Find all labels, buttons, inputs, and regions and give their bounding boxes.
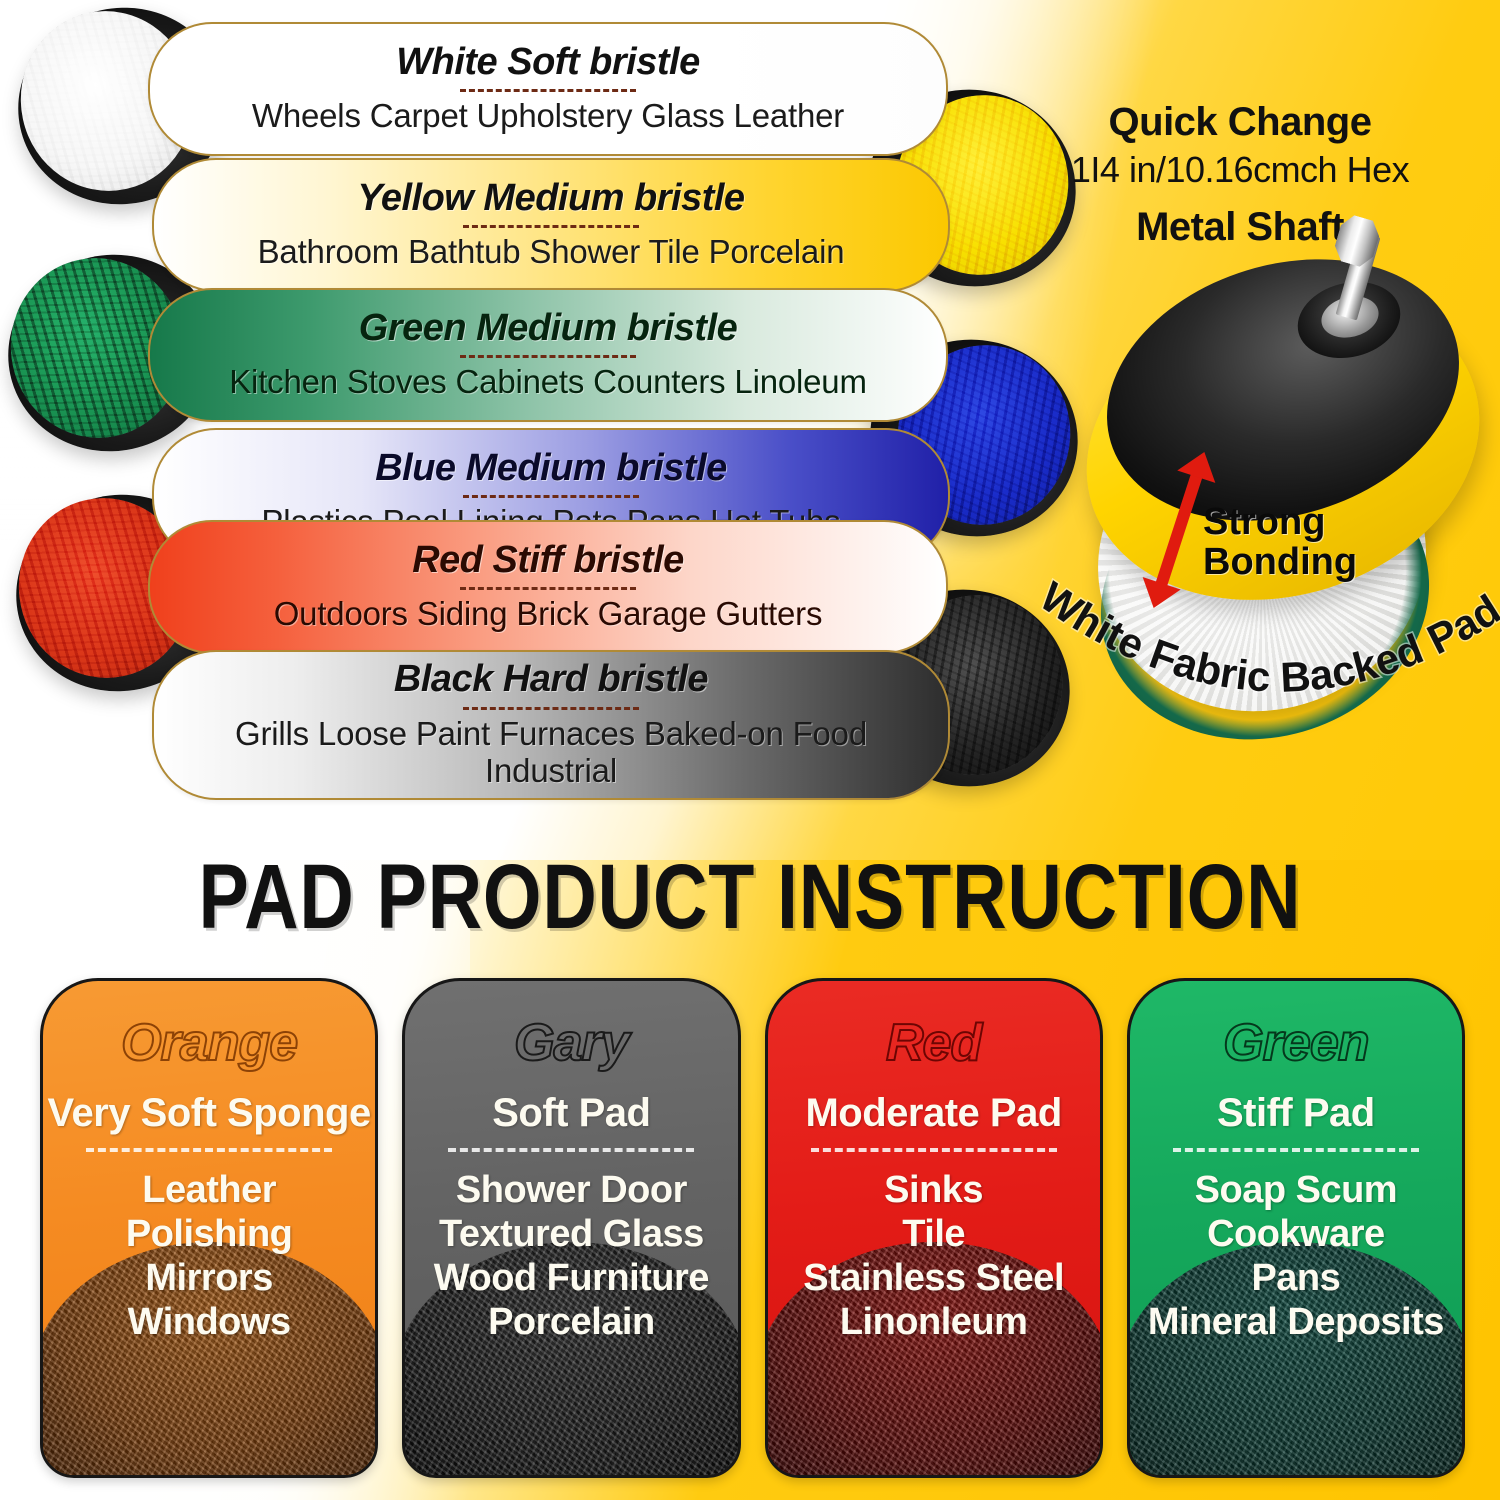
divider-dashed: [460, 355, 636, 358]
bristle-uses: Grills Loose Paint Furnaces Baked-on Foo…: [235, 716, 867, 753]
list-item: Soap Scum: [1130, 1168, 1462, 1212]
list-item: Pans: [1130, 1256, 1462, 1300]
pad-card-heading: Moderate Pad: [768, 1091, 1100, 1136]
pad-card-gary[interactable]: Gary Soft Pad Shower Door Textured Glass…: [402, 978, 740, 1478]
bristle-uses-line2: Industrial: [485, 753, 617, 790]
pad-card-name: Green: [1130, 1017, 1462, 1069]
bristle-uses: Outdoors Siding Brick Garage Gutters: [274, 596, 823, 633]
curved-caption-svg: White Fabric Backed Pads: [1040, 555, 1500, 745]
pad-card-green[interactable]: Green Stiff Pad Soap Scum Cookware Pans …: [1127, 978, 1465, 1478]
divider-dashed: [460, 89, 636, 92]
divider-dashed: [463, 225, 639, 228]
bristle-uses: Kitchen Stoves Cabinets Counters Linoleu…: [229, 364, 867, 401]
divider-dashed: [463, 707, 639, 710]
pad-card-heading: Very Soft Sponge: [43, 1091, 375, 1136]
bristle-title: Blue Medium bristle: [375, 449, 727, 489]
bristle-row-yellow: Yellow Medium bristle Bathroom Bathtub S…: [152, 158, 950, 292]
pad-card-uses: Leather Polishing Mirrors Windows: [43, 1168, 375, 1344]
bristle-uses: Bathroom Bathtub Shower Tile Porcelain: [258, 234, 845, 271]
bristle-row-white: White Soft bristle Wheels Carpet Upholst…: [148, 22, 948, 156]
list-item: Wood Furniture: [405, 1256, 737, 1300]
bristle-title: Green Medium bristle: [359, 309, 738, 349]
bristle-row-black: Black Hard bristle Grills Loose Paint Fu…: [152, 650, 950, 800]
divider-dashed: [448, 1148, 694, 1152]
pad-card-uses: Shower Door Textured Glass Wood Furnitur…: [405, 1168, 737, 1344]
section-title: PAD PRODUCT INSTRUCTION: [135, 845, 1365, 950]
bristle-title: Yellow Medium bristle: [357, 179, 744, 219]
list-item: Mirrors: [43, 1256, 375, 1300]
bristle-uses: Wheels Carpet Upholstery Glass Leather: [252, 98, 844, 135]
list-item: Leather: [43, 1168, 375, 1212]
strong-bonding-line1: Strong: [1203, 503, 1403, 543]
list-item: Textured Glass: [405, 1212, 737, 1256]
divider-dashed: [460, 587, 636, 590]
bristle-row-red: Red Stiff bristle Outdoors Siding Brick …: [148, 520, 948, 654]
list-item: Cookware: [1130, 1212, 1462, 1256]
divider-dashed: [1173, 1148, 1419, 1152]
bristle-title: White Soft bristle: [396, 43, 699, 83]
pad-card-red[interactable]: Red Moderate Pad Sinks Tile Stainless St…: [765, 978, 1103, 1478]
quick-change-line2: 1I4 in/10.16cmch Hex: [1030, 149, 1450, 191]
list-item: Windows: [43, 1300, 375, 1344]
pad-card-name: Red: [768, 1017, 1100, 1069]
bristle-title: Red Stiff bristle: [412, 541, 684, 581]
pad-card-name: Gary: [405, 1017, 737, 1069]
list-item: Mineral Deposits: [1130, 1300, 1462, 1344]
bristle-title: Black Hard bristle: [394, 660, 708, 700]
pad-cards-row: Orange Very Soft Sponge Leather Polishin…: [40, 978, 1465, 1478]
pad-card-orange[interactable]: Orange Very Soft Sponge Leather Polishin…: [40, 978, 378, 1478]
divider-dashed: [86, 1148, 332, 1152]
pad-card-heading: Stiff Pad: [1130, 1091, 1462, 1136]
pad-card-name: Orange: [43, 1017, 375, 1069]
quick-change-line1: Quick Change: [1030, 100, 1450, 145]
pad-card-uses: Sinks Tile Stainless Steel Linonleum: [768, 1168, 1100, 1344]
backing-pad-assembly: Strong Bonding White Fabric Backed Pads: [1075, 225, 1500, 755]
pad-card-heading: Soft Pad: [405, 1091, 737, 1136]
divider-dashed: [463, 495, 639, 498]
list-item: Stainless Steel: [768, 1256, 1100, 1300]
list-item: Linonleum: [768, 1300, 1100, 1344]
list-item: Shower Door: [405, 1168, 737, 1212]
list-item: Polishing: [43, 1212, 375, 1256]
white-fabric-backed-pads-label: White Fabric Backed Pads: [1040, 555, 1500, 701]
bristle-row-green: Green Medium bristle Kitchen Stoves Cabi…: [148, 288, 948, 422]
pad-card-uses: Soap Scum Cookware Pans Mineral Deposits: [1130, 1168, 1462, 1344]
list-item: Sinks: [768, 1168, 1100, 1212]
list-item: Tile: [768, 1212, 1100, 1256]
list-item: Porcelain: [405, 1300, 737, 1344]
divider-dashed: [811, 1148, 1057, 1152]
